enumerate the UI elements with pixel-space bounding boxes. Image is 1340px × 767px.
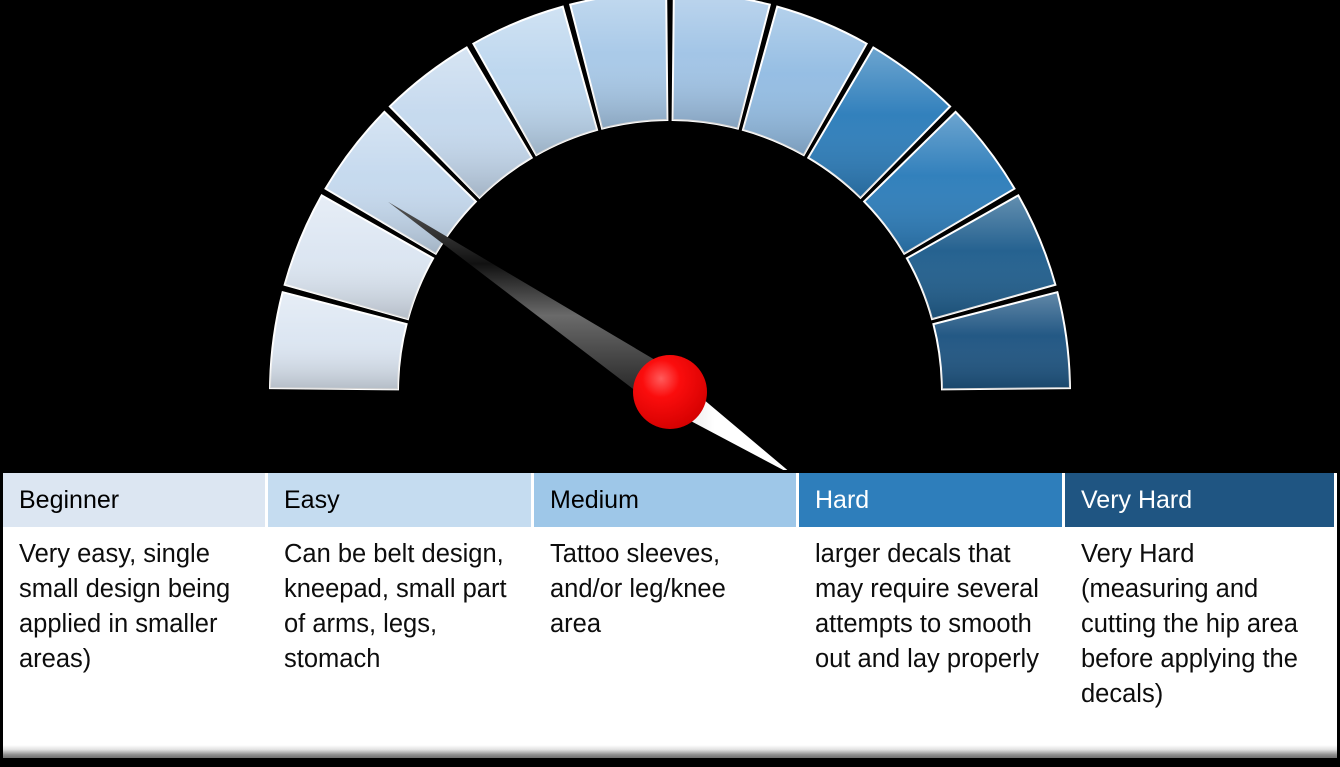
table-shadow <box>3 745 1337 758</box>
table-header-cell-very-hard[interactable]: Very Hard <box>1065 473 1334 527</box>
needle-hub[interactable] <box>633 355 707 429</box>
gauge-chart <box>0 0 1340 470</box>
gauge-needle <box>388 202 794 470</box>
table-body-cell-very-hard: Very Hard (measuring and cutting the hip… <box>1065 527 1334 757</box>
table-header-row: BeginnerEasyMediumHardVery Hard <box>3 473 1337 527</box>
table-body-cell-easy: Can be belt design, kneepad, small part … <box>268 527 534 757</box>
table-body-cell-beginner: Very easy, single small design being app… <box>3 527 268 757</box>
table-header-cell-medium[interactable]: Medium <box>534 473 799 527</box>
difficulty-legend-table: BeginnerEasyMediumHardVery Hard Very eas… <box>3 473 1337 757</box>
gauge-segments <box>270 0 1070 389</box>
gauge-svg <box>0 0 1340 470</box>
table-body-cell-medium: Tattoo sleeves, and/or leg/knee area <box>534 527 799 757</box>
table-header-cell-beginner[interactable]: Beginner <box>3 473 268 527</box>
table-header-cell-hard[interactable]: Hard <box>799 473 1065 527</box>
table-header-cell-easy[interactable]: Easy <box>268 473 534 527</box>
slide-canvas: BeginnerEasyMediumHardVery Hard Very eas… <box>0 0 1340 767</box>
table-body-row: Very easy, single small design being app… <box>3 527 1337 757</box>
table-body-cell-hard: larger decals that may require several a… <box>799 527 1065 757</box>
